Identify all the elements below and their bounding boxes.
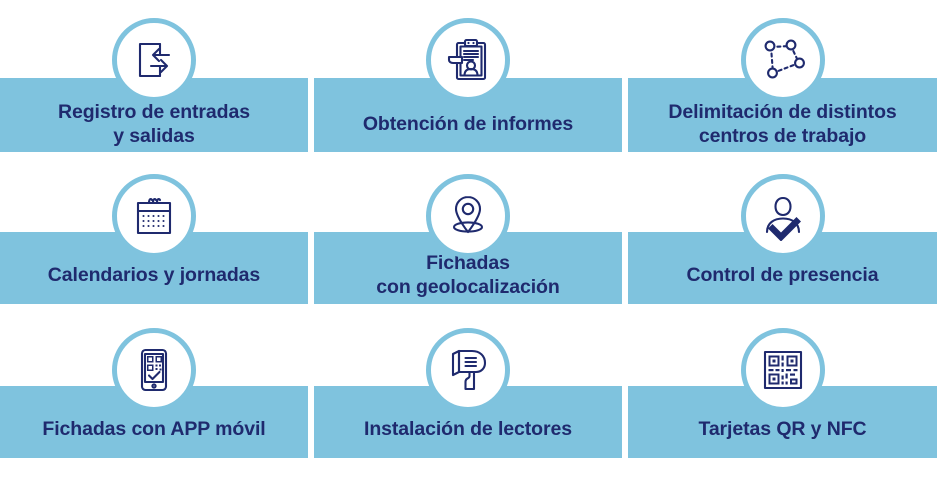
feature-card-obtencion-informes[interactable]: Obtención de informes xyxy=(314,0,622,160)
feature-card-fichadas-geolocalizacion[interactable]: Fichadas con geolocalización xyxy=(314,160,622,314)
geofence-polygon-nodes-icon xyxy=(758,35,808,85)
icon-badge xyxy=(112,328,196,412)
feature-card-tarjetas-qr-nfc[interactable]: Tarjetas QR y NFC xyxy=(628,314,937,468)
card-label: Instalación de lectores xyxy=(364,418,572,442)
clipboard-report-hand-icon xyxy=(443,35,493,85)
card-label: Delimitación de distintos centros de tra… xyxy=(668,101,896,149)
icon-badge xyxy=(112,174,196,258)
icon-badge xyxy=(426,18,510,102)
card-label: Fichadas con geolocalización xyxy=(376,252,559,300)
feature-card-calendarios-jornadas[interactable]: Calendarios y jornadas xyxy=(0,160,308,314)
feature-grid: Registro de entradas y salidas Obtención… xyxy=(0,0,937,488)
card-label: Calendarios y jornadas xyxy=(48,264,260,288)
icon-badge xyxy=(426,174,510,258)
icon-badge xyxy=(741,174,825,258)
feature-card-registro-entradas-salidas[interactable]: Registro de entradas y salidas xyxy=(0,0,308,160)
card-label: Control de presencia xyxy=(687,264,879,288)
wall-calendar-icon xyxy=(129,191,179,241)
icon-badge xyxy=(741,18,825,102)
card-label: Obtención de informes xyxy=(363,113,573,137)
handheld-barcode-scanner-icon xyxy=(443,345,493,395)
card-label: Fichadas con APP móvil xyxy=(42,418,265,442)
door-exit-arrows-icon xyxy=(129,35,179,85)
smartphone-qr-check-icon xyxy=(129,345,179,395)
icon-badge xyxy=(741,328,825,412)
feature-card-fichadas-app-movil[interactable]: Fichadas con APP móvil xyxy=(0,314,308,468)
card-label: Tarjetas QR y NFC xyxy=(698,418,866,442)
map-pin-location-icon xyxy=(443,191,493,241)
card-label: Registro de entradas y salidas xyxy=(58,101,250,149)
feature-card-delimitacion-centros-trabajo[interactable]: Delimitación de distintos centros de tra… xyxy=(628,0,937,160)
icon-badge xyxy=(426,328,510,412)
feature-card-control-presencia[interactable]: Control de presencia xyxy=(628,160,937,314)
feature-card-instalacion-lectores[interactable]: Instalación de lectores xyxy=(314,314,622,468)
icon-badge xyxy=(112,18,196,102)
person-check-icon xyxy=(758,191,808,241)
qr-code-icon xyxy=(758,345,808,395)
